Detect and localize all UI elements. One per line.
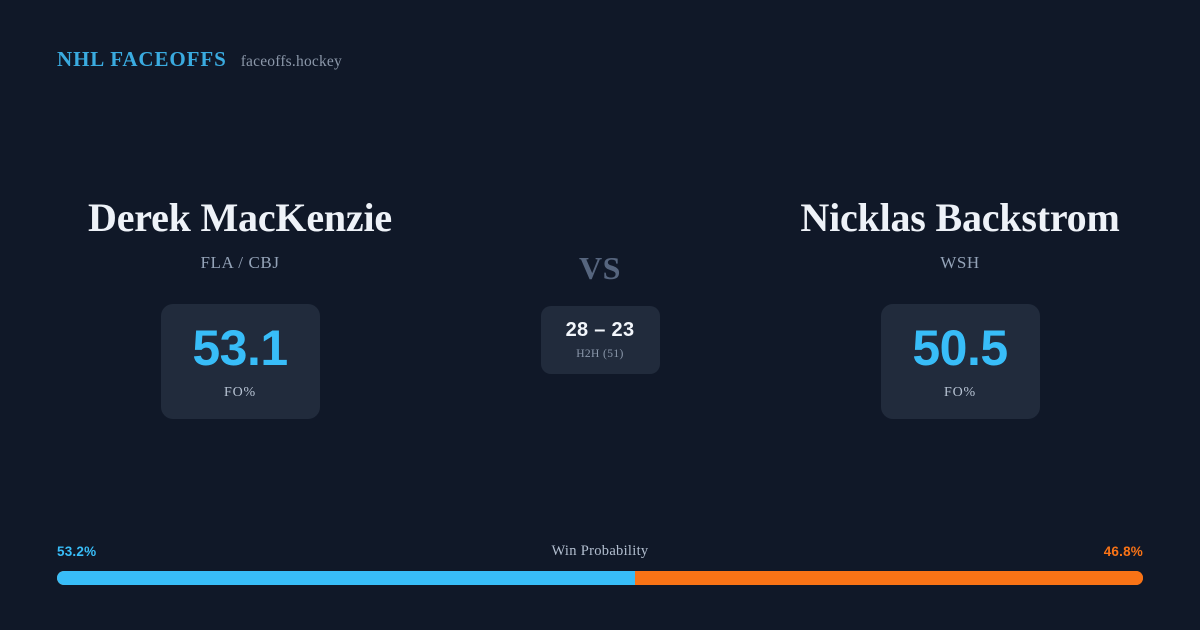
brand-domain: faceoffs.hockey [241,53,342,71]
player-right-faceoff-label: FO% [944,385,976,401]
win-probability-bar [57,571,1143,585]
player-left-team: FLA / CBJ [200,253,279,273]
player-left-stat-card: 53.1 FO% [161,304,320,419]
head-to-head-record: 28 – 23 [566,320,635,340]
player-right-stat-card: 50.5 FO% [881,304,1040,419]
win-probability-title: Win Probability [57,543,1143,560]
player-right-team: WSH [940,253,980,273]
matchup-center: VS 28 – 23 H2H (51) [480,196,720,374]
site-header: NHL FACEOFFS faceoffs.hockey [57,47,342,72]
vs-label: VS [579,252,621,284]
player-left-faceoff-label: FO% [224,385,256,401]
win-probability-labels: 53.2% Win Probability 46.8% [57,541,1143,561]
player-right-name: Nicklas Backstrom [800,196,1119,240]
player-left-faceoff-value: 53.1 [192,323,287,373]
head-to-head-card: 28 – 23 H2H (51) [541,306,660,374]
win-probability-bar-right [635,571,1143,585]
head-to-head-label: H2H (51) [576,348,624,360]
brand-title: NHL FACEOFFS [57,47,227,72]
win-probability-section: 53.2% Win Probability 46.8% [57,541,1143,585]
player-left-name: Derek MacKenzie [88,196,392,240]
player-right: Nicklas Backstrom WSH 50.5 FO% [720,196,1200,419]
matchup-section: Derek MacKenzie FLA / CBJ 53.1 FO% VS 28… [0,196,1200,419]
player-left: Derek MacKenzie FLA / CBJ 53.1 FO% [0,196,480,419]
win-probability-bar-left [57,571,635,585]
player-right-faceoff-value: 50.5 [912,323,1007,373]
